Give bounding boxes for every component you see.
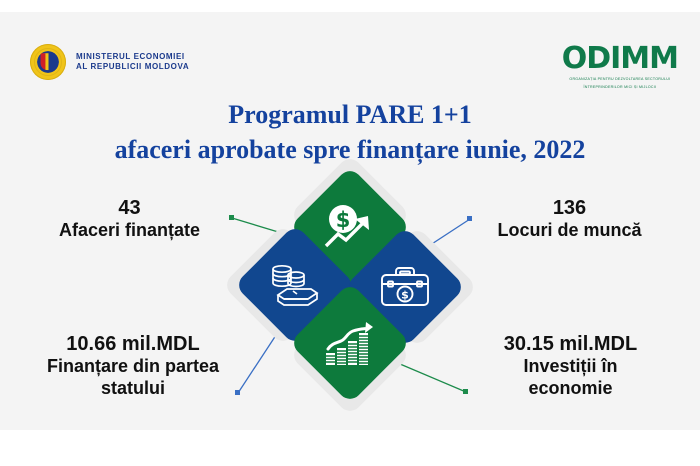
- stat-locuri-de-munca: 136 Locuri de muncă: [452, 196, 687, 242]
- stat-label: Afaceri finanțate: [12, 220, 247, 242]
- diamond-cluster: $: [248, 180, 452, 392]
- odimm-wordmark: ODIMM: [562, 44, 678, 74]
- stat-label-line-2: statului: [8, 378, 258, 400]
- svg-text:$: $: [336, 208, 351, 232]
- odimm-subtitle-line-1: ORGANIZAȚIA PENTRU DEZVOLTAREA SECTORULU…: [562, 77, 678, 82]
- bar-chart-growth-arrow-icon: [324, 320, 376, 366]
- stat-finantare-stat: 10.66 mil.MDL Finanțare din partea statu…: [8, 332, 258, 400]
- stat-investitii-economie: 30.15 mil.MDL Investiții în economie: [448, 332, 693, 400]
- briefcase-dollar-icon: $: [379, 265, 431, 309]
- seal-ring: [34, 48, 62, 76]
- stat-label-line-1: Investiții în: [448, 356, 693, 378]
- title-line-1: Programul PARE 1+1: [0, 98, 700, 133]
- odimm-subtitle-line-2: ÎNTREPRINDERILOR MICI ȘI MIJLOCII: [562, 85, 678, 90]
- ministry-line-1: MINISTERUL ECONOMIEI: [76, 52, 189, 62]
- odimm-logo-block: ODIMM ORGANIZAȚIA PENTRU DEZVOLTAREA SEC…: [562, 44, 678, 91]
- dollar-coin-growth-arrow-icon: $: [324, 204, 376, 250]
- stat-label: Locuri de muncă: [452, 220, 687, 242]
- stat-value: 30.15 mil.MDL: [448, 332, 693, 356]
- ministry-logo-block: MINISTERUL ECONOMIEI AL REPUBLICII MOLDO…: [30, 44, 189, 80]
- ministry-name: MINISTERUL ECONOMIEI AL REPUBLICII MOLDO…: [76, 52, 189, 72]
- stat-value: 136: [452, 196, 687, 220]
- ministry-line-2: AL REPUBLICII MOLDOVA: [76, 62, 189, 72]
- stat-value: 10.66 mil.MDL: [8, 332, 258, 356]
- stat-afaceri-finantate: 43 Afaceri finanțate: [12, 196, 247, 242]
- page-title: Programul PARE 1+1 afaceri aprobate spre…: [0, 98, 700, 167]
- moldova-state-seal-icon: [30, 44, 66, 80]
- svg-text:$: $: [401, 289, 409, 302]
- stat-label-line-1: Finanțare din partea: [8, 356, 258, 378]
- infographic-canvas: MINISTERUL ECONOMIEI AL REPUBLICII MOLDO…: [0, 12, 700, 430]
- money-coins-cash-icon: [268, 261, 322, 309]
- stat-value: 43: [12, 196, 247, 220]
- stat-label-line-2: economie: [448, 378, 693, 400]
